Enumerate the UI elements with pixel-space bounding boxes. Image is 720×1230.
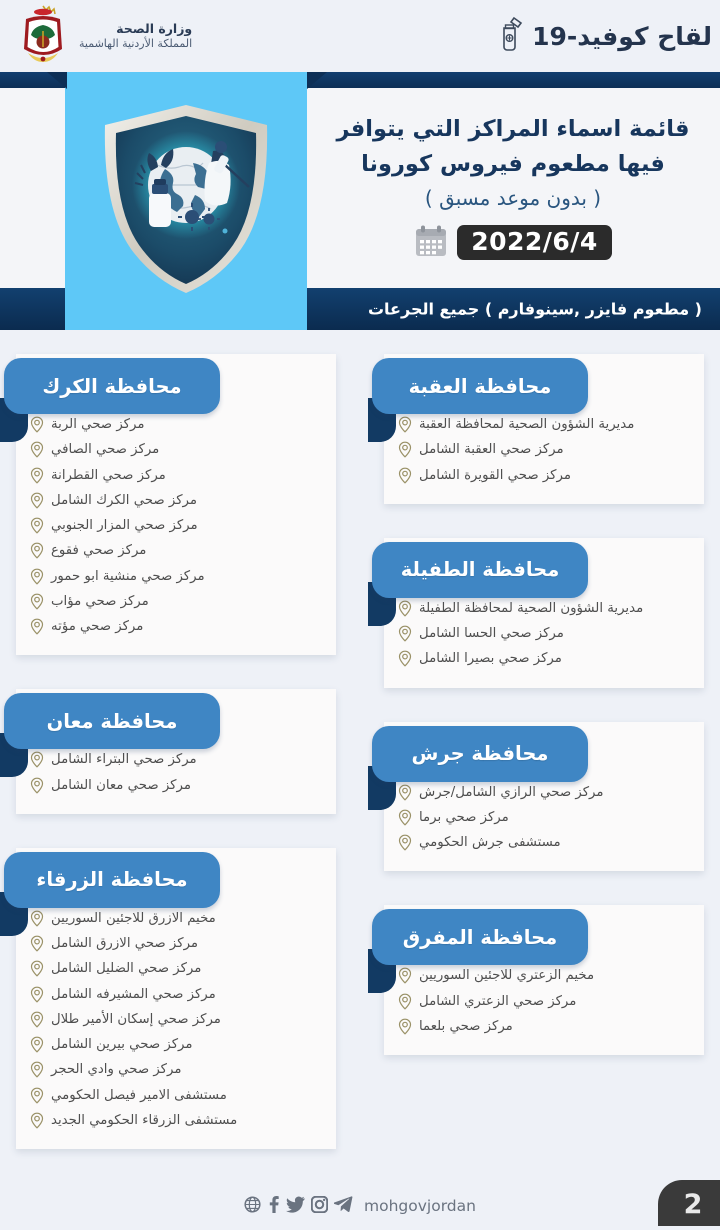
list-item: مركز صحي الكرك الشامل	[30, 488, 322, 513]
location-pin-icon	[398, 600, 412, 617]
center-name: مركز صحي الازرق الشامل	[51, 931, 198, 956]
center-name: مركز صحي مؤته	[51, 614, 143, 639]
location-pin-icon	[398, 625, 412, 642]
governorate-title-tab: محافظة العقبة	[372, 358, 588, 414]
location-pin-icon	[398, 784, 412, 801]
governorate-title: محافظة الكرك	[42, 375, 181, 398]
location-pin-icon	[30, 593, 44, 610]
ministry-text: وزارة الصحة المملكة الأردنية الهاشمية	[79, 21, 192, 50]
location-pin-icon	[30, 910, 44, 927]
governorate-title: محافظة الطفيلة	[401, 558, 560, 581]
location-pin-icon	[30, 542, 44, 559]
center-name: مركز صحي بيرين الشامل	[51, 1032, 193, 1057]
column-right: محافظة الكركمركز صحي الربةمركز صحي الصاف…	[16, 354, 336, 1183]
location-pin-icon	[398, 1018, 412, 1035]
center-name: مستشفى الزرقاء الحكومي الجديد	[51, 1108, 237, 1133]
governorate-card: محافظة العقبةمديرية الشؤون الصحية لمحافظ…	[384, 354, 704, 504]
center-list: مخيم الزعتري للاجئين السوريينمركز صحي ال…	[384, 963, 704, 1039]
list-item: مركز صحي الصافي	[30, 437, 322, 462]
page-number: 2	[676, 1187, 703, 1220]
top-bar: لقاح كوفيد-19 وزارة الصحة المملكة الأردن…	[0, 0, 720, 72]
center-name: مركز صحي وادي الحجر	[51, 1057, 181, 1082]
list-item: مركز صحي بلعما	[398, 1014, 690, 1039]
governorate-card: محافظة جرشمركز صحي الرازي الشامل/جرشمركز…	[384, 722, 704, 872]
location-pin-icon	[30, 1036, 44, 1053]
location-pin-icon	[30, 986, 44, 1003]
location-pin-icon	[398, 441, 412, 458]
location-pin-icon	[30, 1087, 44, 1104]
governorate-grid: محافظة الكركمركز صحي الربةمركز صحي الصاف…	[0, 330, 720, 1230]
location-pin-icon	[30, 568, 44, 585]
hero-banner: قائمة اسماء المراكز التي يتوافر فيها مطع…	[0, 72, 720, 330]
column-left: محافظة العقبةمديرية الشؤون الصحية لمحافظ…	[384, 354, 704, 1089]
list-item: مركز صحي بيرين الشامل	[30, 1032, 322, 1057]
location-pin-icon	[30, 492, 44, 509]
location-pin-icon	[30, 441, 44, 458]
center-name: مركز صحي الحسا الشامل	[419, 621, 564, 646]
vaccine-bottle-icon	[498, 15, 526, 57]
center-name: مركز صحي الصافي	[51, 437, 159, 462]
calendar-icon	[414, 224, 448, 262]
location-pin-icon	[30, 416, 44, 433]
governorate-title: محافظة العقبة	[409, 375, 552, 398]
location-pin-icon	[398, 650, 412, 667]
center-list: مديرية الشؤون الصحية لمحافظة العقبةمركز …	[384, 412, 704, 488]
list-item: مركز صحي الضليل الشامل	[30, 956, 322, 981]
twitter-icon[interactable]	[286, 1196, 305, 1217]
center-list: مركز صحي الرازي الشامل/جرشمركز صحي برمام…	[384, 780, 704, 856]
card-header: محافظة معان	[16, 689, 336, 753]
governorate-title-tab: محافظة معان	[4, 693, 220, 749]
list-item: مركز صحي معان الشامل	[30, 773, 322, 798]
banner-text-block: قائمة اسماء المراكز التي يتوافر فيها مطع…	[320, 88, 706, 288]
card-header: محافظة الكرك	[16, 354, 336, 418]
governorate-title-tab: محافظة الكرك	[4, 358, 220, 414]
location-pin-icon	[30, 751, 44, 768]
card-header: محافظة جرش	[384, 722, 704, 786]
banner-heading-line1: قائمة اسماء المراكز التي يتوافر	[337, 114, 690, 145]
card-header: محافظة العقبة	[384, 354, 704, 418]
governorate-card: محافظة الكركمركز صحي الربةمركز صحي الصاف…	[16, 354, 336, 655]
governorate-title-tab: محافظة الطفيلة	[372, 542, 588, 598]
list-item: مركز صحي القويرة الشامل	[398, 463, 690, 488]
center-name: مركز صحي الزعتري الشامل	[419, 989, 576, 1014]
center-list: مركز صحي الربةمركز صحي الصافيمركز صحي ال…	[16, 412, 336, 639]
governorate-card: محافظة الطفيلةمديرية الشؤون الصحية لمحاف…	[384, 538, 704, 688]
location-pin-icon	[398, 967, 412, 984]
center-name: مركز صحي مؤاب	[51, 589, 149, 614]
list-item: مركز صحي المزار الجنوبي	[30, 513, 322, 538]
center-list: مركز صحي البتراء الشاملمركز صحي معان الش…	[16, 747, 336, 798]
date-row: 2022/6/4	[414, 224, 612, 262]
jordan-coat-of-arms-icon	[14, 1, 72, 71]
center-name: مركز صحي المزار الجنوبي	[51, 513, 198, 538]
location-pin-icon	[398, 416, 412, 433]
center-name: مركز صحي بلعما	[419, 1014, 513, 1039]
list-item: مركز صحي فقوع	[30, 538, 322, 563]
page-badge: 2	[658, 1180, 720, 1226]
card-header: محافظة الطفيلة	[384, 538, 704, 602]
location-pin-icon	[30, 777, 44, 794]
governorate-title-tab: محافظة المفرق	[372, 909, 588, 965]
governorate-card: محافظة المفرقمخيم الزعتري للاجئين السوري…	[384, 905, 704, 1055]
social-handle[interactable]: mohgovjordan	[364, 1197, 476, 1215]
location-pin-icon	[30, 935, 44, 952]
center-name: مركز صحي العقبة الشامل	[419, 437, 564, 462]
center-name: مركز صحي القويرة الشامل	[419, 463, 571, 488]
facebook-icon[interactable]	[267, 1196, 280, 1217]
card-header: محافظة المفرق	[384, 905, 704, 969]
list-item: مركز صحي العقبة الشامل	[398, 437, 690, 462]
governorate-card: محافظة الزرقاءمخيم الازرق للاجئين السوري…	[16, 848, 336, 1149]
location-pin-icon	[398, 809, 412, 826]
location-pin-icon	[30, 1112, 44, 1129]
list-item: مركز صحي وادي الحجر	[30, 1057, 322, 1082]
globe-icon[interactable]	[244, 1196, 261, 1217]
center-name: مركز صحي بصيرا الشامل	[419, 646, 562, 671]
center-name: مركز صحي برما	[419, 805, 509, 830]
governorate-card: محافظة معانمركز صحي البتراء الشاملمركز ص…	[16, 689, 336, 814]
list-item: مركز صحي القطرانة	[30, 463, 322, 488]
governorate-title: محافظة المفرق	[403, 926, 558, 949]
center-name: مركز صحي الكرك الشامل	[51, 488, 197, 513]
list-item: مركز صحي مؤته	[30, 614, 322, 639]
list-item: مركز صحي المشيرفه الشامل	[30, 982, 322, 1007]
list-item: مركز صحي الازرق الشامل	[30, 931, 322, 956]
instagram-icon[interactable]	[311, 1196, 328, 1217]
banner-heading-line2: فيها مطعوم فيروس كورونا	[361, 149, 665, 180]
social-links[interactable]: mohgovjordan	[244, 1196, 476, 1217]
center-name: مركز صحي إسكان الأمير طلال	[51, 1007, 221, 1032]
list-item: مركز صحي منشية ابو حمور	[30, 564, 322, 589]
location-pin-icon	[30, 1061, 44, 1078]
governorate-title: محافظة معان	[47, 710, 178, 733]
location-pin-icon	[30, 960, 44, 977]
center-list: مخيم الازرق للاجئين السوريينمركز صحي الا…	[16, 906, 336, 1133]
covid-shield-globe-icon	[95, 99, 277, 303]
center-name: مركز صحي الضليل الشامل	[51, 956, 201, 981]
list-item: مستشفى الامير فيصل الحكومي	[30, 1083, 322, 1108]
location-pin-icon	[398, 467, 412, 484]
list-item: مستشفى جرش الحكومي	[398, 830, 690, 855]
list-item: مركز صحي برما	[398, 805, 690, 830]
center-name: مركز صحي فقوع	[51, 538, 146, 563]
list-item: مركز صحي بصيرا الشامل	[398, 646, 690, 671]
center-name: مستشفى الامير فيصل الحكومي	[51, 1083, 227, 1108]
center-name: مركز صحي منشية ابو حمور	[51, 564, 205, 589]
location-pin-icon	[30, 517, 44, 534]
kingdom-name: المملكة الأردنية الهاشمية	[79, 37, 192, 51]
banner-subheading: ( بدون موعد مسبق )	[425, 184, 601, 212]
location-pin-icon	[30, 618, 44, 635]
banner-note: ( مطعوم فايزر ,سينوفارم ) جميع الجرعات	[368, 300, 702, 319]
location-pin-icon	[30, 1011, 44, 1028]
list-item: مستشفى الزرقاء الحكومي الجديد	[30, 1108, 322, 1133]
footer: mohgovjordan 2	[0, 1186, 720, 1226]
governorate-title: محافظة الزرقاء	[36, 868, 187, 891]
telegram-icon[interactable]	[334, 1196, 353, 1217]
list-item: مركز صحي مؤاب	[30, 589, 322, 614]
vaccine-label: لقاح كوفيد-19	[532, 22, 712, 51]
date-chip: 2022/6/4	[457, 225, 612, 260]
governorate-title: محافظة جرش	[412, 742, 549, 765]
list-item: مركز صحي إسكان الأمير طلال	[30, 1007, 322, 1032]
card-header: محافظة الزرقاء	[16, 848, 336, 912]
ministry-name: وزارة الصحة	[79, 21, 192, 37]
governorate-title-tab: محافظة الزرقاء	[4, 852, 220, 908]
center-name: مركز صحي القطرانة	[51, 463, 166, 488]
location-pin-icon	[398, 834, 412, 851]
location-pin-icon	[30, 467, 44, 484]
center-name: مركز صحي المشيرفه الشامل	[51, 982, 216, 1007]
governorate-title-tab: محافظة جرش	[372, 726, 588, 782]
list-item: مركز صحي الحسا الشامل	[398, 621, 690, 646]
center-name: مستشفى جرش الحكومي	[419, 830, 561, 855]
vaccine-brand: لقاح كوفيد-19	[498, 15, 712, 57]
list-item: مركز صحي الزعتري الشامل	[398, 989, 690, 1014]
center-list: مديرية الشؤون الصحية لمحافظة الطفيلةمركز…	[384, 596, 704, 672]
center-name: مركز صحي معان الشامل	[51, 773, 191, 798]
ministry-brand: وزارة الصحة المملكة الأردنية الهاشمية	[14, 1, 192, 71]
shield-panel	[65, 72, 307, 330]
location-pin-icon	[398, 993, 412, 1010]
